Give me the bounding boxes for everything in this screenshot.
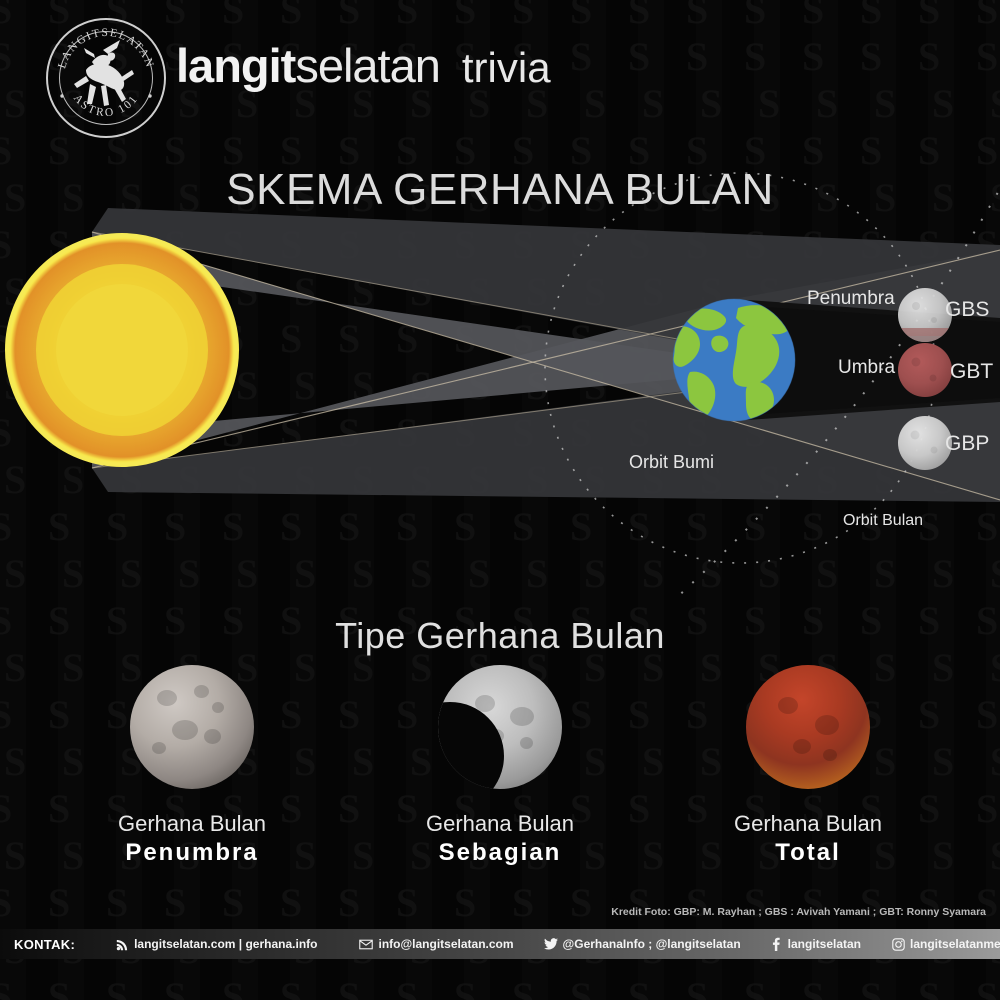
moon-total-photo <box>746 665 870 789</box>
label-gbp: GBP <box>945 432 989 456</box>
eclipse-type-card: Gerhana Bulan Penumbra <box>97 665 287 885</box>
contact-label: KONTAK: <box>14 937 75 952</box>
label-penumbra: Penumbra <box>807 288 895 310</box>
label-gbs: GBS <box>945 298 989 322</box>
type-label-line2: Total <box>734 838 882 867</box>
earth <box>673 299 795 421</box>
type-label-line1: Gerhana Bulan <box>426 811 574 838</box>
footer-item-label: @GerhanaInfo ; @langitselatan <box>563 937 741 951</box>
twitter-icon <box>544 937 558 951</box>
footer-item-rss[interactable]: langitselatan.com | gerhana.info <box>115 937 317 951</box>
footer-item-envelope[interactable]: info@langitselatan.com <box>359 937 513 951</box>
wordmark-bold: langit <box>176 39 295 92</box>
eclipse-type-card: Gerhana Bulan Sebagian <box>405 665 595 885</box>
instagram-icon <box>891 937 905 951</box>
envelope-icon <box>359 937 373 951</box>
footer-item-label: langitselatan.com | gerhana.info <box>134 937 317 951</box>
logo-artwork: LANGITSELATAN ASTRO 101 <box>46 18 166 138</box>
page-title: SKEMA GERHANA BULAN <box>0 165 1000 215</box>
footer-item-instagram[interactable]: langitselatanmedia <box>891 937 1000 951</box>
contact-footer: KONTAK: langitselatan.com | gerhana.info… <box>0 929 1000 959</box>
types-section-title: Tipe Gerhana Bulan <box>0 615 1000 657</box>
header: LANGITSELATAN ASTRO 101 <box>0 0 1000 150</box>
footer-items: langitselatan.com | gerhana.infoinfo@lan… <box>75 937 1000 951</box>
eclipse-type-caption: Gerhana Bulan Penumbra <box>118 811 266 867</box>
label-umbra: Umbra <box>838 357 895 379</box>
moon-gbt <box>898 343 952 397</box>
label-orbit-bumi: Orbit Bumi <box>629 452 714 473</box>
type-label-line1: Gerhana Bulan <box>734 811 882 838</box>
footer-item-label: langitselatanmedia <box>910 937 1000 951</box>
facebook-icon <box>769 937 783 951</box>
footer-item-label: langitselatan <box>788 937 861 951</box>
umbral-shadow-bite <box>438 702 504 789</box>
moon-gbp <box>898 416 952 470</box>
label-gbt: GBT <box>950 360 993 384</box>
eclipse-type-caption: Gerhana Bulan Total <box>734 811 882 867</box>
footer-item-facebook[interactable]: langitselatan <box>769 937 861 951</box>
rss-icon <box>115 937 129 951</box>
label-orbit-bulan: Orbit Bulan <box>843 512 923 530</box>
footer-item-twitter[interactable]: @GerhanaInfo ; @langitselatan <box>544 937 741 951</box>
infographic-root: SSSSSSSSSSSSSSSSSSSSSSSSSSSSSSSSSSSSSSSS… <box>0 0 1000 1000</box>
type-label-line2: Sebagian <box>426 838 574 867</box>
moon-partial-photo <box>438 665 562 789</box>
sun <box>7 235 237 465</box>
eclipse-types-row: Gerhana Bulan Penumbra Gerhana Bulan Seb… <box>0 665 1000 885</box>
footer-item-label: info@langitselatan.com <box>378 937 513 951</box>
eclipse-type-card: Gerhana Bulan Total <box>713 665 903 885</box>
type-label-line2: Penumbra <box>118 838 266 867</box>
photo-credit: Kredit Foto: GBP: M. Rayhan ; GBS : Aviv… <box>611 906 986 918</box>
wordmark-light: selatan <box>295 39 440 92</box>
wordmark-suffix: trivia <box>462 44 551 91</box>
type-label-line1: Gerhana Bulan <box>118 811 266 838</box>
langitselatan-logo: LANGITSELATAN ASTRO 101 <box>46 18 166 138</box>
moon-penumbral-photo <box>130 665 254 789</box>
wordmark: langitselatantrivia <box>176 38 551 93</box>
eclipse-type-caption: Gerhana Bulan Sebagian <box>426 811 574 867</box>
